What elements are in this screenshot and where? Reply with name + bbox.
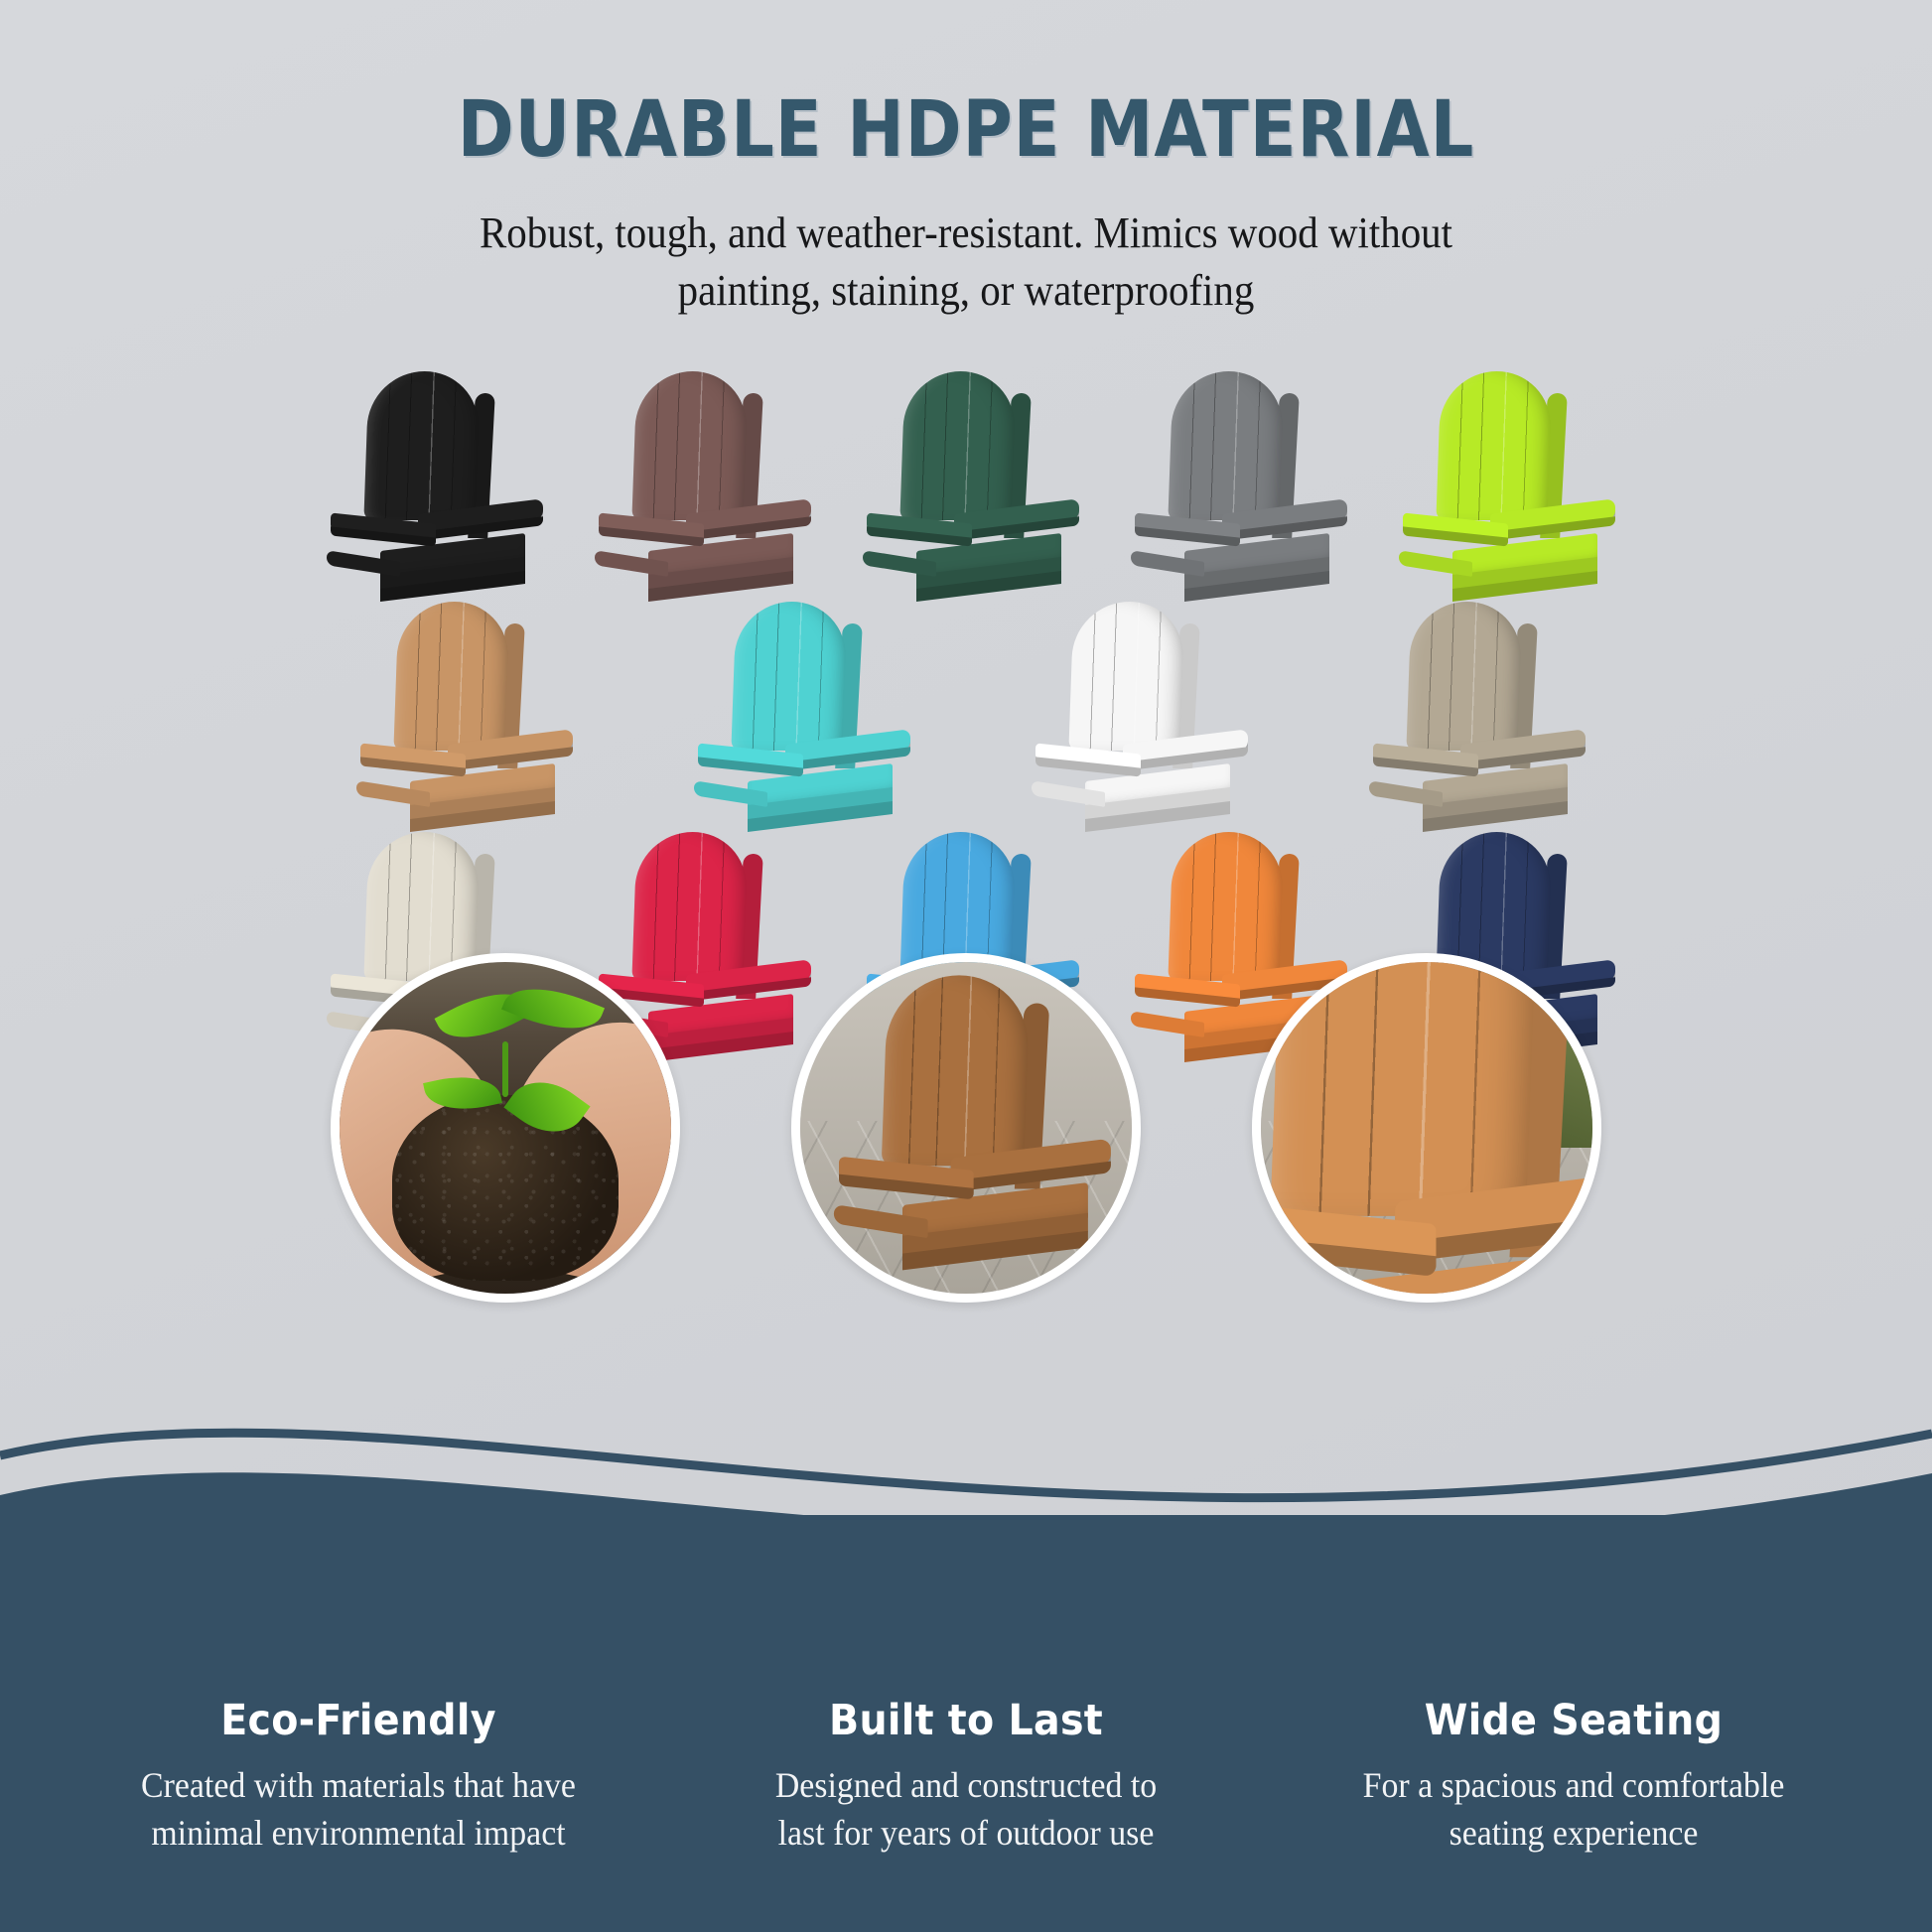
header: DURABLE HDPE MATERIAL Robust, tough, and… bbox=[0, 0, 1932, 320]
page-title: DURABLE HDPE MATERIAL bbox=[116, 85, 1816, 175]
chair-swatch[interactable] bbox=[296, 367, 564, 616]
feature-column-eco: Eco-Friendly Created with materials that… bbox=[55, 1696, 662, 1857]
front-right-leg bbox=[1062, 1224, 1087, 1280]
chair-illustration-lime-green bbox=[1395, 367, 1609, 614]
chair-back bbox=[882, 975, 1031, 1166]
chair-row-1 bbox=[0, 367, 1932, 616]
chair-back bbox=[1168, 371, 1284, 520]
feature-body-line-2: last for years of outdoor use bbox=[697, 1809, 1234, 1857]
chair-back bbox=[899, 371, 1016, 520]
seedling-stem bbox=[502, 1041, 508, 1097]
chair-row-2 bbox=[0, 598, 1932, 846]
feature-body: Created with materials that have minimal… bbox=[89, 1761, 626, 1857]
chair-back bbox=[1436, 371, 1552, 520]
feature-captions: Eco-Friendly Created with materials that… bbox=[0, 1696, 1932, 1857]
chair-swatch[interactable] bbox=[628, 598, 966, 846]
chair-back bbox=[1270, 953, 1538, 1216]
chair-illustration-turquoise bbox=[690, 598, 904, 844]
feature-body: For a spacious and comfortable seating e… bbox=[1305, 1761, 1842, 1857]
chair-back bbox=[731, 602, 847, 751]
chair-seat-closeup-photo bbox=[1252, 953, 1601, 1303]
feature-column-seating: Wide Seating For a spacious and comforta… bbox=[1270, 1696, 1877, 1857]
feature-heading: Built to Last bbox=[703, 1696, 1229, 1745]
chair-illustration-gray bbox=[1127, 367, 1341, 614]
feature-heading: Wide Seating bbox=[1311, 1696, 1837, 1745]
chair-illustration-dark-green bbox=[859, 367, 1073, 614]
seat-front-rail bbox=[1309, 1301, 1601, 1303]
feature-body-line-1: Created with materials that have bbox=[89, 1761, 626, 1809]
chair-illustration bbox=[1252, 953, 1601, 1303]
chair-illustration-brown bbox=[591, 367, 805, 614]
chair-swatch[interactable] bbox=[832, 367, 1100, 616]
chair-back bbox=[631, 371, 748, 520]
chair-back bbox=[1068, 602, 1184, 751]
chair-color-grid bbox=[0, 367, 1932, 1052]
chair-illustration-teak bbox=[352, 598, 567, 844]
chair-back bbox=[1406, 602, 1522, 751]
chair-illustration-khaki bbox=[1365, 598, 1580, 844]
chair-swatch[interactable] bbox=[564, 367, 832, 616]
chair-back bbox=[363, 371, 480, 520]
chair-illustration-white bbox=[1028, 598, 1242, 844]
page-subtitle: Robust, tough, and weather-resistant. Mi… bbox=[68, 205, 1864, 320]
chair-illustration bbox=[829, 970, 1103, 1285]
chair-swatch[interactable] bbox=[1100, 367, 1368, 616]
feature-heading: Eco-Friendly bbox=[95, 1696, 621, 1745]
brown-chair-on-patio-photo bbox=[791, 953, 1141, 1303]
front-left-leg bbox=[906, 1232, 931, 1286]
feature-body-line-2: seating experience bbox=[1305, 1809, 1842, 1857]
chair-swatch[interactable] bbox=[1368, 367, 1636, 616]
chair-swatch[interactable] bbox=[291, 598, 628, 846]
feature-column-durability: Built to Last Designed and constructed t… bbox=[662, 1696, 1270, 1857]
chair-back bbox=[393, 602, 509, 751]
soil-mound bbox=[392, 1095, 618, 1281]
subtitle-line-2: painting, staining, or waterproofing bbox=[68, 262, 1864, 320]
hands-holding-seedling-photo bbox=[331, 953, 680, 1303]
subtitle-line-1: Robust, tough, and weather-resistant. Mi… bbox=[68, 205, 1864, 262]
feature-body: Designed and constructed to last for yea… bbox=[697, 1761, 1234, 1857]
feature-photos bbox=[0, 953, 1932, 1311]
feature-body-line-1: For a spacious and comfortable bbox=[1305, 1761, 1842, 1809]
feature-body-line-1: Designed and constructed to bbox=[697, 1761, 1234, 1809]
chair-illustration-black bbox=[323, 367, 537, 614]
feature-body-line-2: minimal environmental impact bbox=[89, 1809, 626, 1857]
chair-swatch[interactable] bbox=[1304, 598, 1641, 846]
chair-swatch[interactable] bbox=[966, 598, 1304, 846]
